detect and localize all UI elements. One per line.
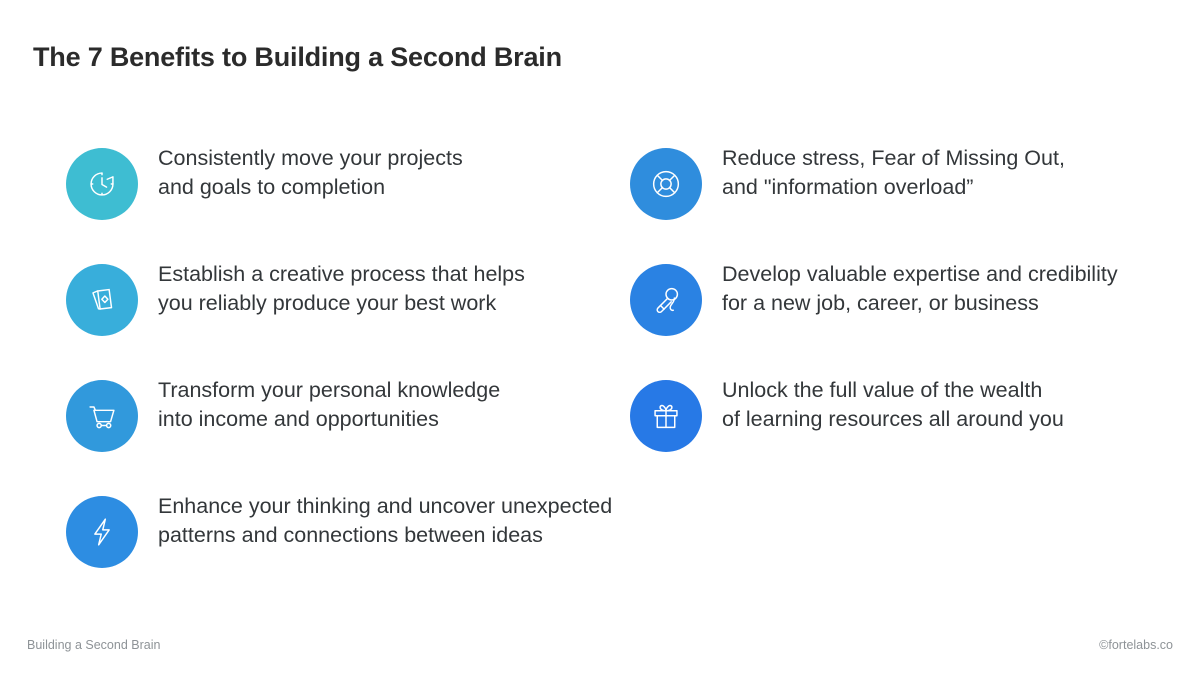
lifebuoy-icon: [647, 165, 685, 203]
benefit-line-1: Reduce stress, Fear of Missing Out,: [722, 144, 1065, 173]
benefit-item: Establish a creative process that helps …: [66, 254, 626, 370]
benefit-line-2: patterns and connections between ideas: [158, 521, 612, 550]
benefit-item: Develop valuable expertise and credibili…: [630, 254, 1200, 370]
benefit-line-1: Enhance your thinking and uncover unexpe…: [158, 492, 612, 521]
footer-left-label: Building a Second Brain: [27, 638, 160, 652]
benefits-column-right: Reduce stress, Fear of Missing Out, and …: [630, 138, 1200, 486]
footer-right-label: ©fortelabs.co: [1099, 638, 1173, 652]
lightning-bolt-icon: [83, 513, 121, 551]
benefit-text: Establish a creative process that helps …: [158, 260, 525, 318]
benefit-text: Unlock the full value of the wealth of l…: [722, 376, 1064, 434]
benefit-item: Reduce stress, Fear of Missing Out, and …: [630, 138, 1200, 254]
benefit-line-2: and goals to completion: [158, 173, 463, 202]
benefit-line-2: of learning resources all around you: [722, 405, 1064, 434]
benefit-item: Consistently move your projects and goal…: [66, 138, 626, 254]
benefit-line-1: Consistently move your projects: [158, 144, 463, 173]
benefit-text: Develop valuable expertise and credibili…: [722, 260, 1118, 318]
benefit-text: Enhance your thinking and uncover unexpe…: [158, 492, 612, 550]
benefit-text: Reduce stress, Fear of Missing Out, and …: [722, 144, 1065, 202]
benefit-icon-circle: [66, 380, 138, 452]
benefit-line-2: into income and opportunities: [158, 405, 500, 434]
benefit-line-1: Develop valuable expertise and credibili…: [722, 260, 1118, 289]
benefit-icon-circle: [630, 148, 702, 220]
benefit-item: Enhance your thinking and uncover unexpe…: [66, 486, 626, 602]
benefit-icon-circle: [66, 148, 138, 220]
benefit-icon-circle: [630, 380, 702, 452]
benefit-icon-circle: [66, 264, 138, 336]
microphone-icon: [647, 281, 685, 319]
benefit-text: Consistently move your projects and goal…: [158, 144, 463, 202]
benefit-icon-circle: [630, 264, 702, 336]
benefit-line-1: Transform your personal knowledge: [158, 376, 500, 405]
shopping-cart-icon: [83, 397, 121, 435]
gift-box-icon: [647, 397, 685, 435]
benefit-line-2: for a new job, career, or business: [722, 289, 1118, 318]
playing-cards-icon: [83, 281, 121, 319]
benefit-item: Unlock the full value of the wealth of l…: [630, 370, 1200, 486]
benefit-item: Transform your personal knowledge into i…: [66, 370, 626, 486]
benefit-text: Transform your personal knowledge into i…: [158, 376, 500, 434]
benefit-icon-circle: [66, 496, 138, 568]
benefit-line-1: Establish a creative process that helps: [158, 260, 525, 289]
benefit-line-2: and "information overload”: [722, 173, 1065, 202]
page-title: The 7 Benefits to Building a Second Brai…: [33, 42, 562, 73]
benefit-line-1: Unlock the full value of the wealth: [722, 376, 1064, 405]
benefit-line-2: you reliably produce your best work: [158, 289, 525, 318]
clock-history-icon: [83, 165, 121, 203]
benefits-column-left: Consistently move your projects and goal…: [66, 138, 626, 602]
slide-canvas: The 7 Benefits to Building a Second Brai…: [0, 0, 1200, 675]
